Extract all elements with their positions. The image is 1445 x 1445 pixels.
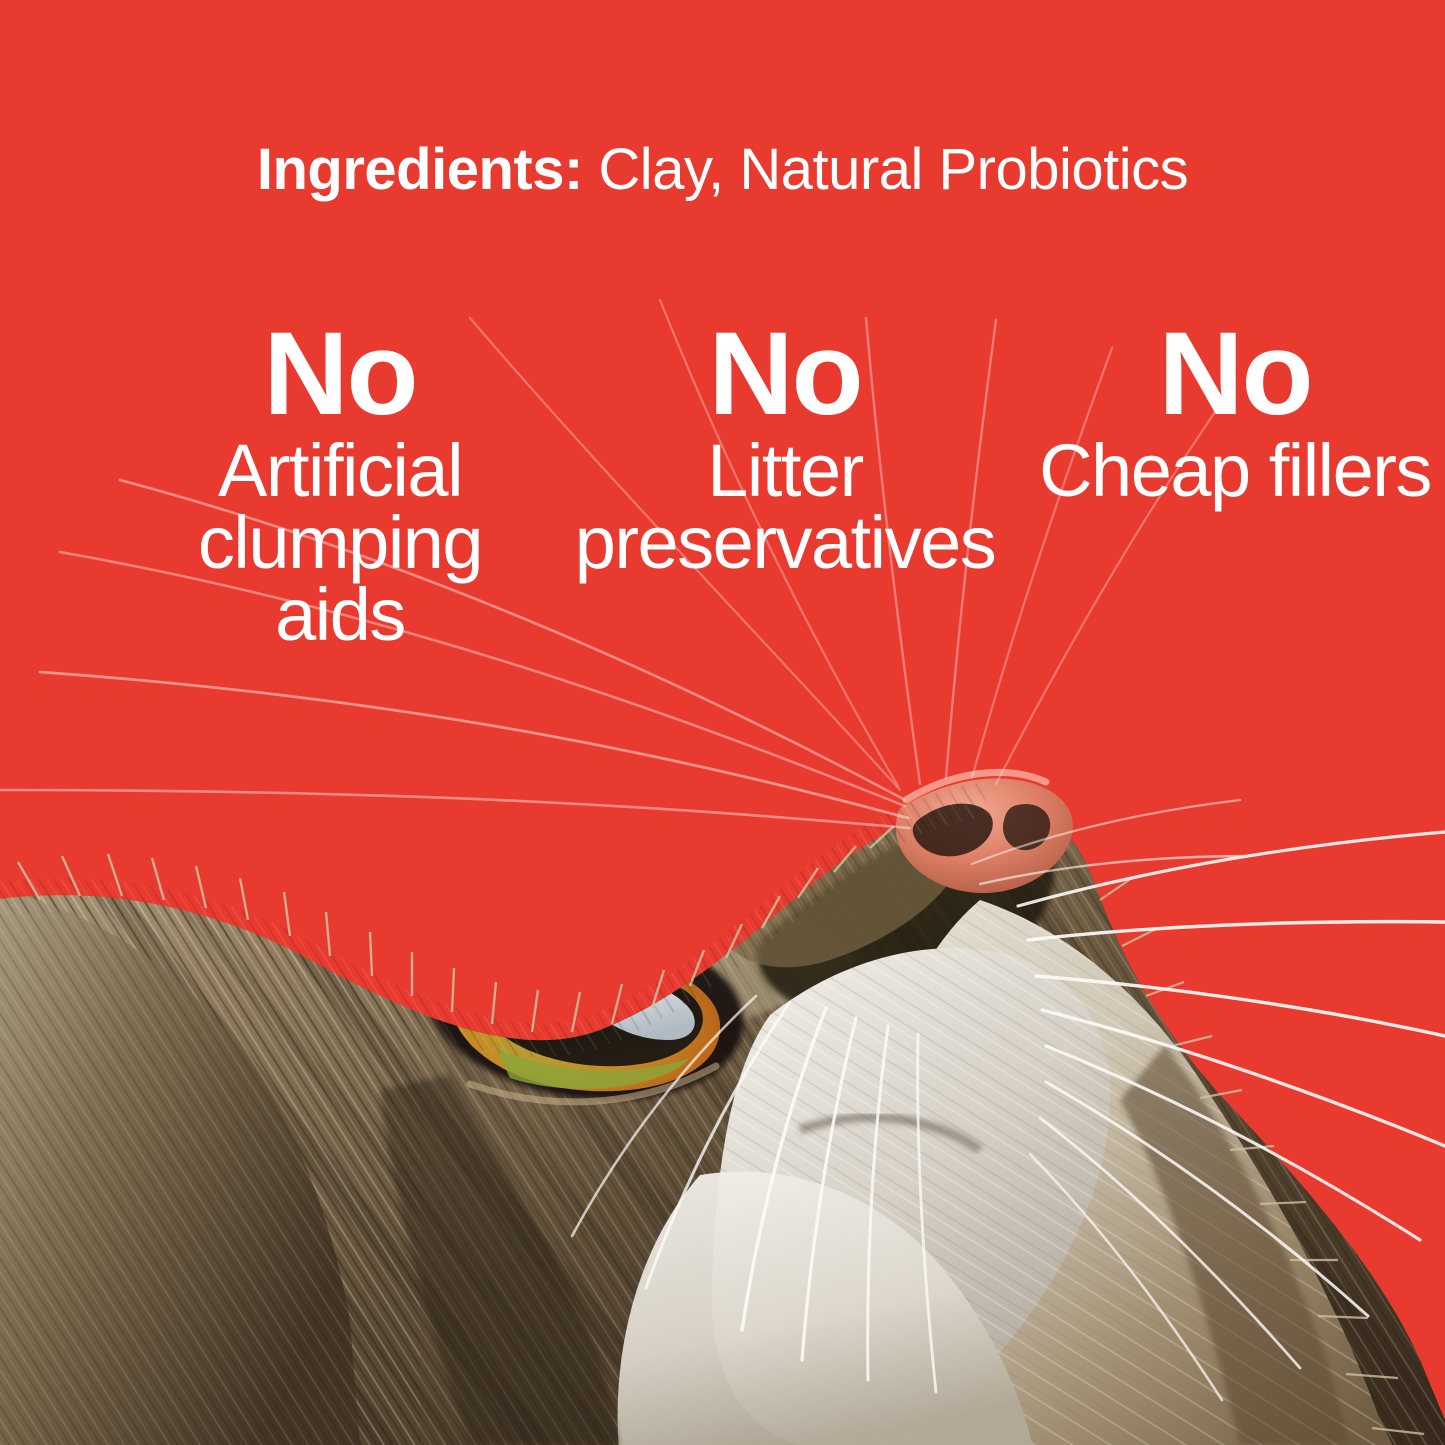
cat-illustration <box>0 0 1445 1445</box>
claim-prefix: No <box>1035 318 1435 431</box>
claim-prefix: No <box>540 318 1030 431</box>
claim-description: Cheap fillers <box>1035 435 1435 507</box>
ingredients-label: Ingredients: <box>257 137 583 202</box>
claim-item-litter-preservatives: No Litter preservatives <box>540 318 1030 579</box>
ingredients-header: Ingredients: Clay, Natural Probiotics <box>0 140 1445 201</box>
cat-head <box>0 780 1445 1445</box>
claim-item-cheap-fillers: No Cheap fillers <box>1035 318 1435 507</box>
claim-description: Artificial clumping aids <box>145 435 535 650</box>
product-claims-poster: Ingredients: Clay, Natural Probiotics No… <box>0 0 1445 1445</box>
claim-description: Litter preservatives <box>540 435 1030 579</box>
ingredients-value: Clay, Natural Probiotics <box>598 137 1188 202</box>
claim-prefix: No <box>145 318 535 431</box>
cat-photo <box>0 0 1445 1445</box>
claim-item-artificial-clumping-aids: No Artificial clumping aids <box>145 318 535 651</box>
